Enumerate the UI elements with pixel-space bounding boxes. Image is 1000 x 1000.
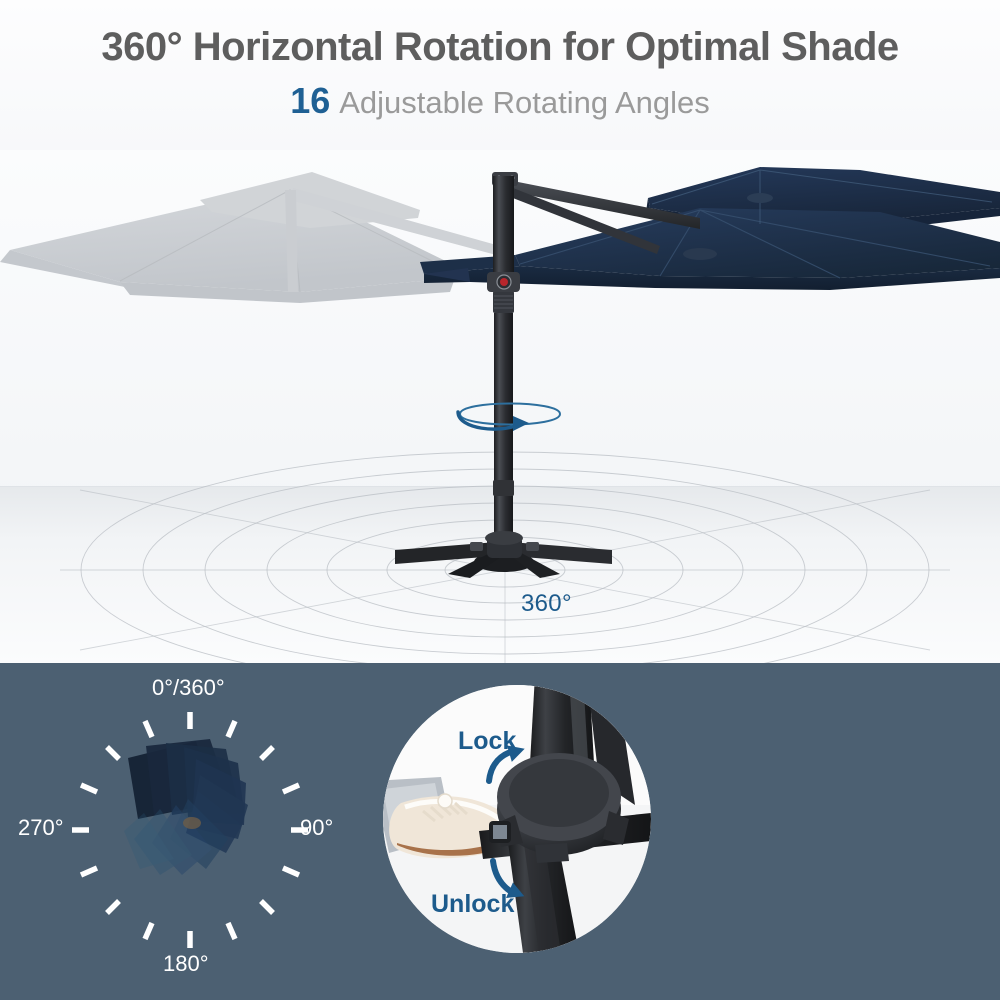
foot-pedal-photo-graphic: [383, 685, 651, 953]
header: 360° Horizontal Rotation for Optimal Sha…: [0, 0, 1000, 150]
lock-accent: [500, 278, 508, 286]
subtitle: 16 Adjustable Rotating Angles: [290, 80, 710, 122]
dial-label-180: 180°: [163, 951, 209, 977]
umbrella-scene: 360°: [0, 150, 1000, 663]
angle-dial: 0°/360° 90° 180° 270°: [20, 663, 365, 1000]
product-feature-graphic: 360° Horizontal Rotation for Optimal Sha…: [0, 0, 1000, 1000]
angle-count: 16: [290, 80, 330, 122]
ghost-umbrella: [0, 172, 500, 303]
cross-base: [395, 531, 612, 578]
dial-label-90: 90°: [300, 815, 333, 841]
umbrella-illustration: [0, 150, 1000, 663]
lock-label: Lock: [458, 727, 516, 756]
umbrella-pole: [487, 176, 520, 554]
rotation-arrow-head: [513, 416, 529, 431]
fanned-canopies: [124, 739, 248, 875]
subtitle-text: Adjustable Rotating Angles: [339, 85, 710, 121]
foot-pedal-photo: Lock Unlock: [383, 685, 651, 953]
page-title: 360° Horizontal Rotation for Optimal Sha…: [101, 26, 898, 68]
unlock-label: Unlock: [431, 890, 514, 919]
dial-label-0: 0°/360°: [152, 675, 225, 701]
rotation-degree-label: 360°: [521, 590, 572, 618]
dial-label-270: 270°: [18, 815, 64, 841]
